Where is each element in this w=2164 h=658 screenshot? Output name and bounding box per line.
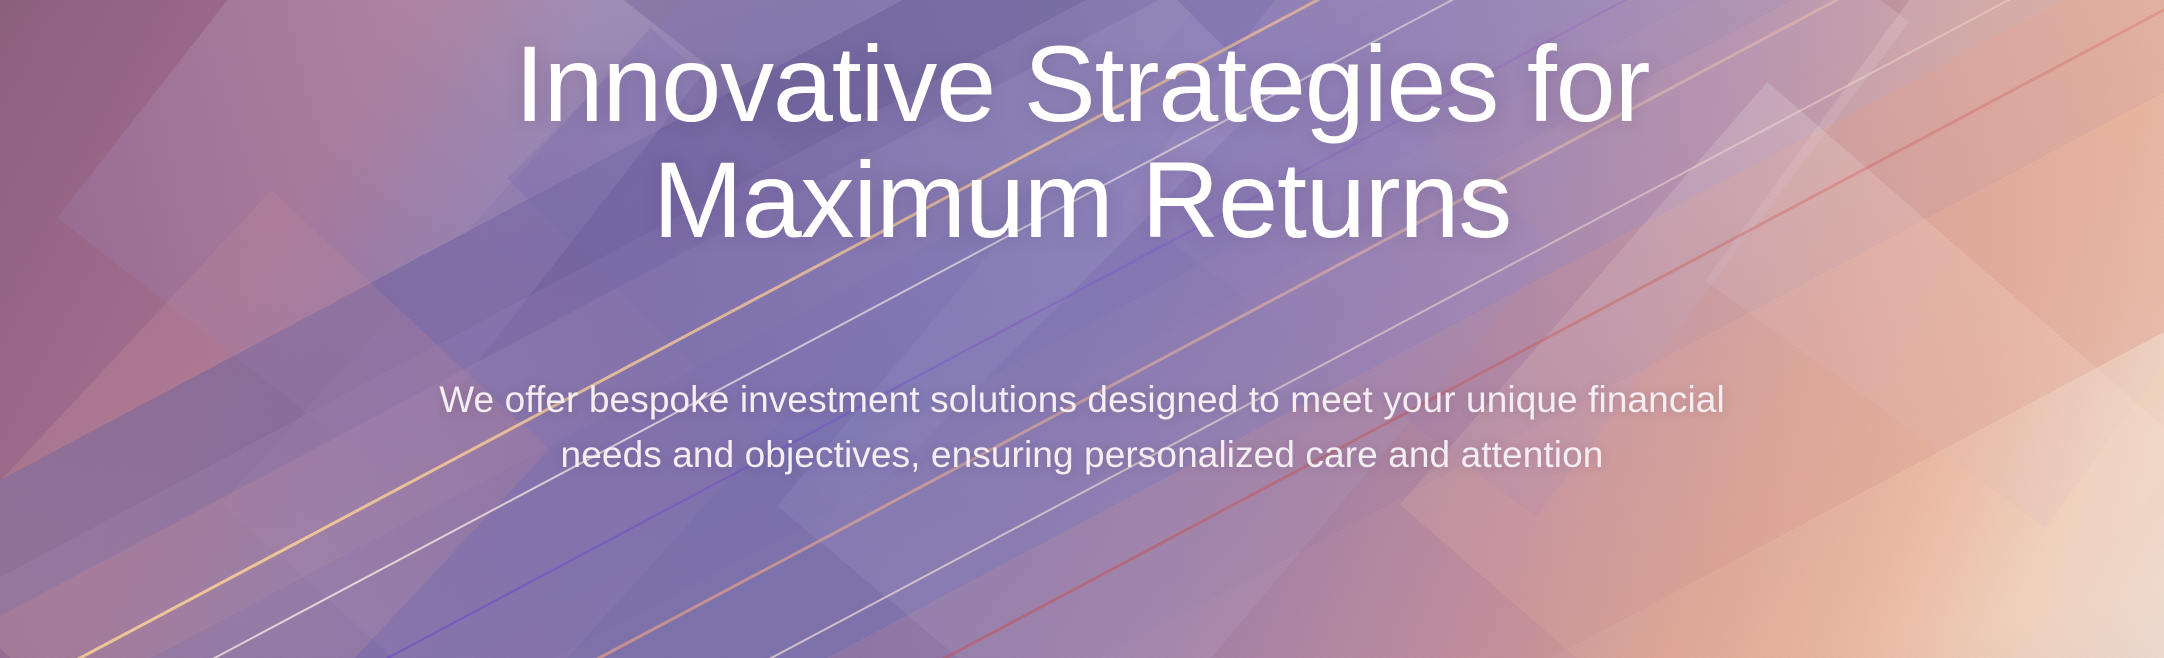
hero-subtitle-line-1: We offer bespoke investment solutions de… [439,373,1725,428]
hero-banner: Innovative Strategies for Maximum Return… [0,0,2164,658]
hero-headline-line-1: Innovative Strategies for [515,26,1650,142]
hero-headline-line-2: Maximum Returns [515,142,1650,258]
hero-subtitle-line-2: needs and objectives, ensuring personali… [439,428,1725,483]
hero-subtitle: We offer bespoke investment solutions de… [439,373,1725,483]
hero-content: Innovative Strategies for Maximum Return… [0,0,2164,658]
hero-headline: Innovative Strategies for Maximum Return… [515,26,1650,257]
